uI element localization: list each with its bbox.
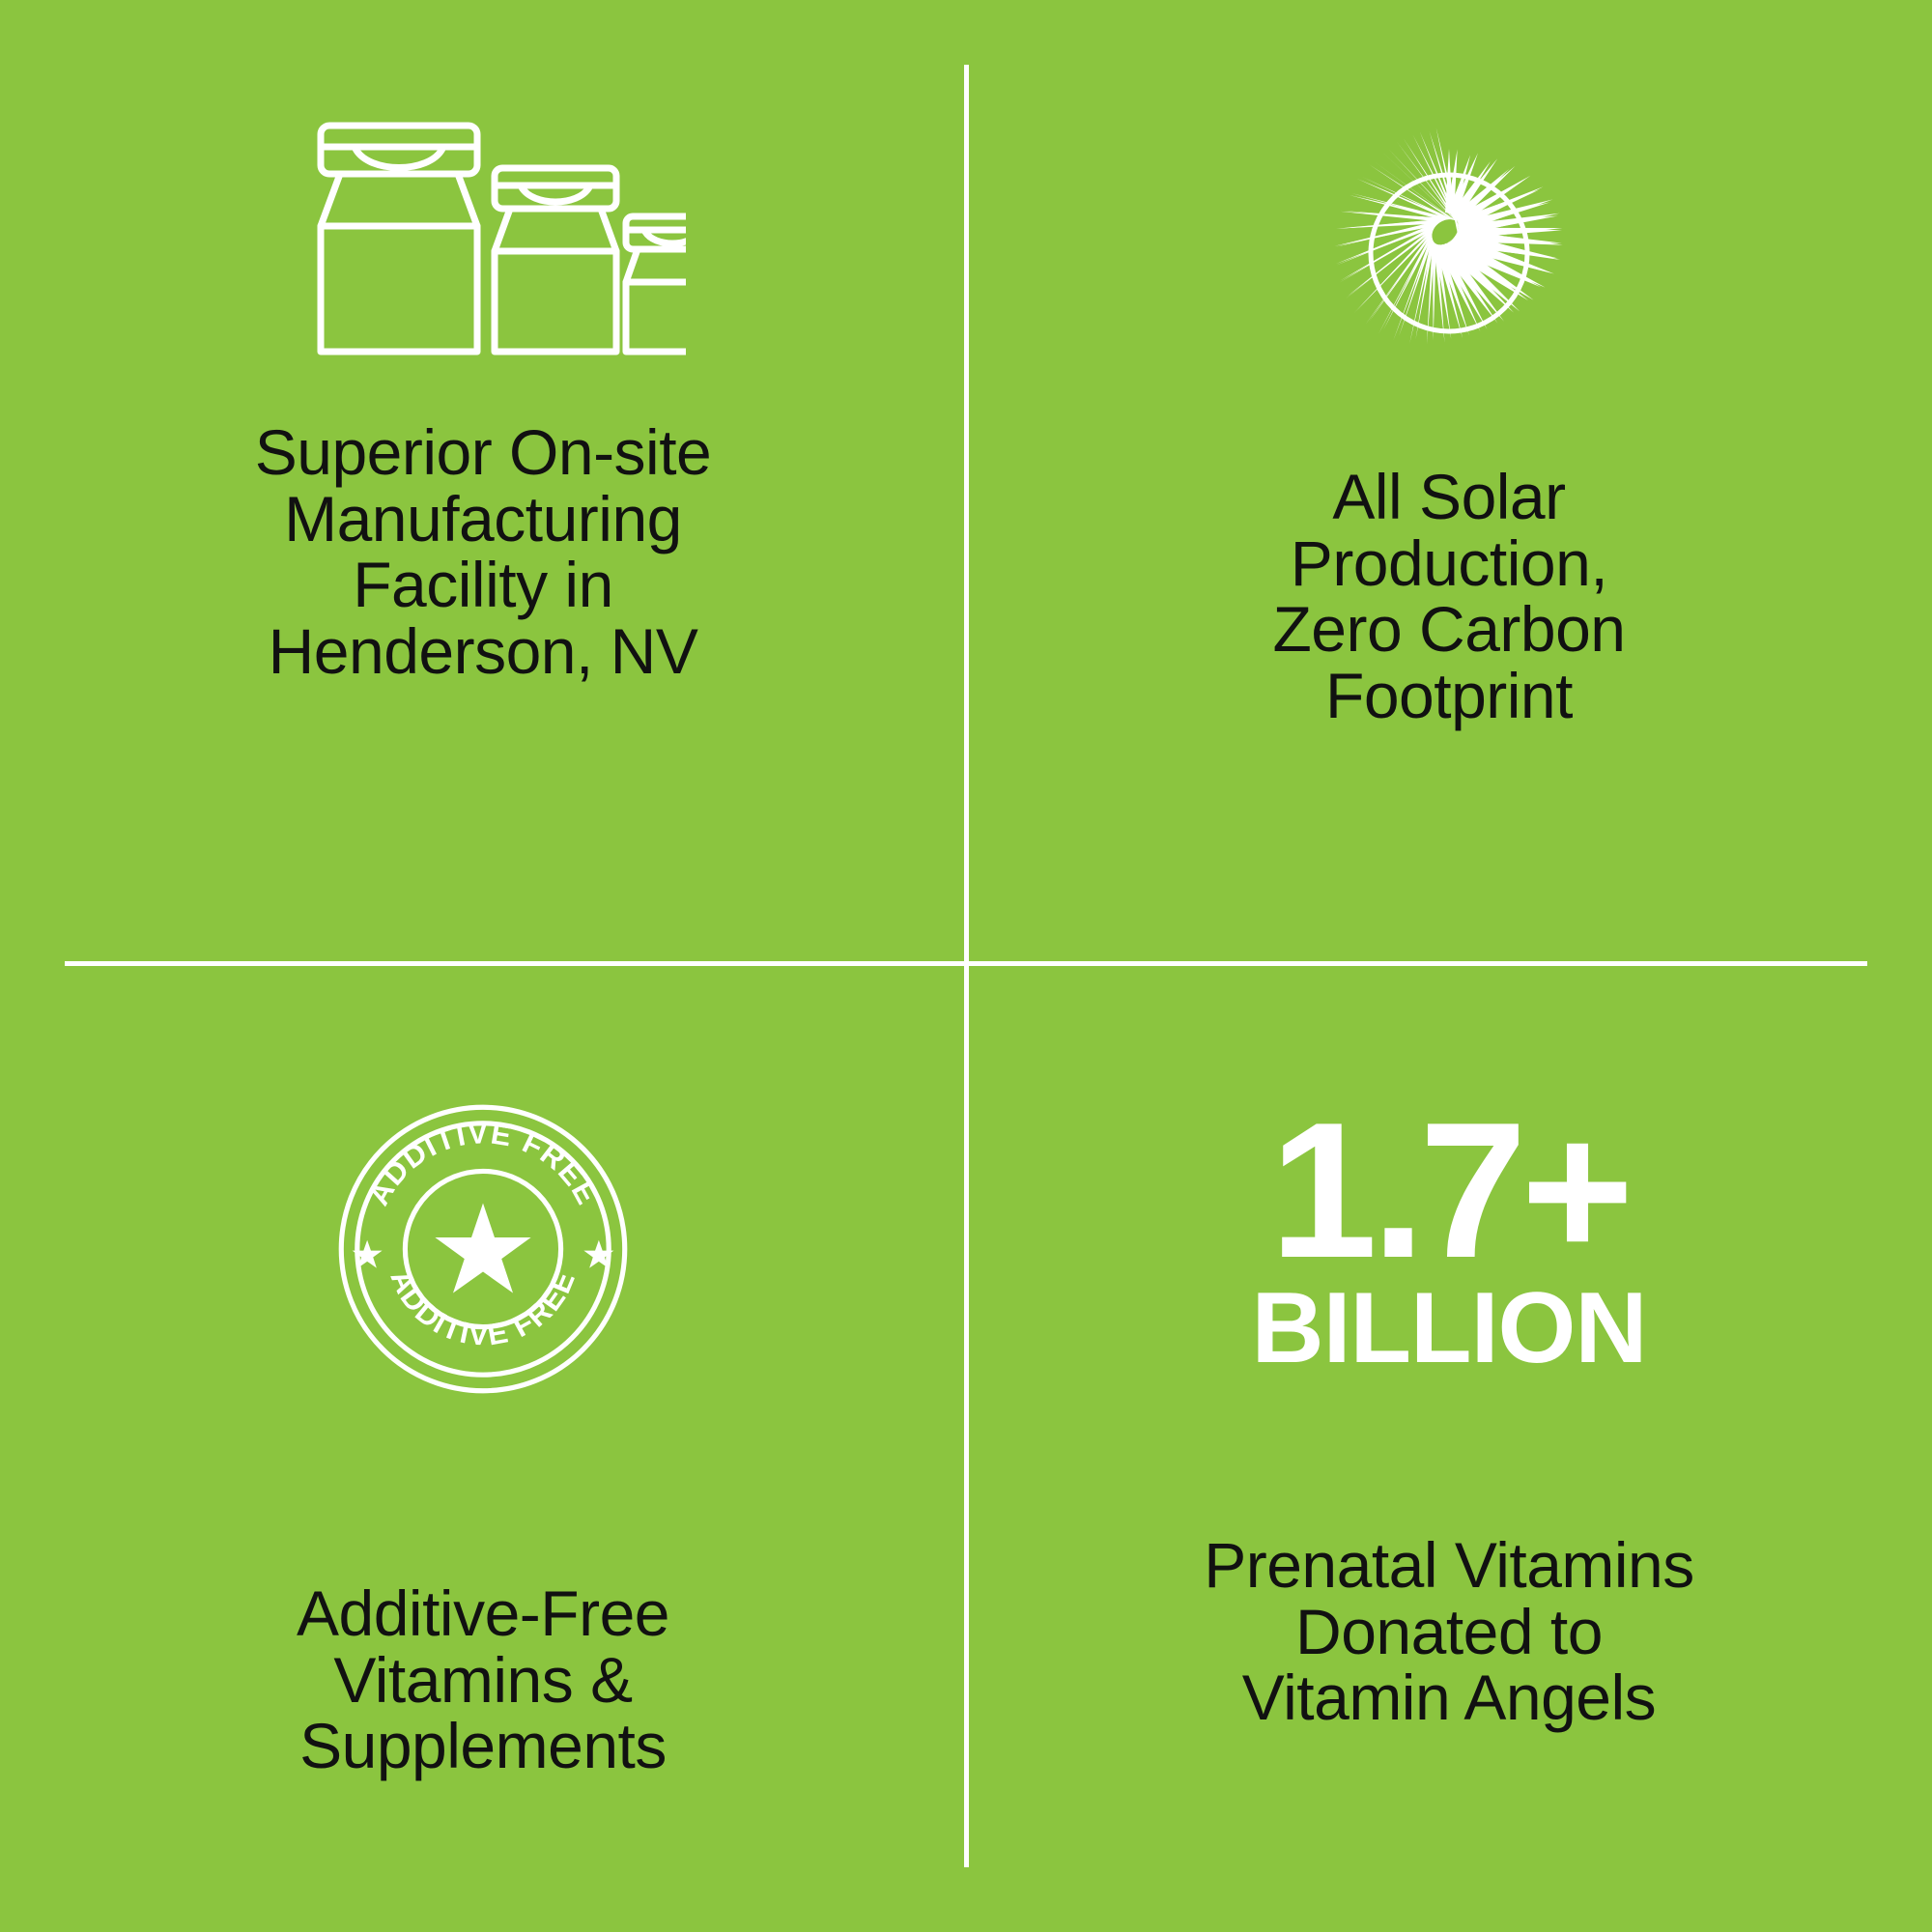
- vertical-divider: [964, 65, 969, 1867]
- donation-count-stat: 1.7+ BILLION: [1246, 1099, 1652, 1389]
- quadrant-donations-stat-area: 1.7+ BILLION: [1246, 1099, 1652, 1389]
- supplement-bottles-icon: [280, 108, 686, 359]
- quadrant-additive-free-icon-area: ADDITIVE FREE ADDITIVE FREE: [333, 1099, 633, 1399]
- quadrant-manufacturing-icon-area: [280, 108, 686, 359]
- additive-free-seal-text-bottom: ADDITIVE FREE: [384, 1265, 582, 1352]
- quadrant-donations-caption: Prenatal Vitamins Donated to Vitamin Ang…: [1204, 1532, 1694, 1731]
- additive-free-seal-icon: ADDITIVE FREE ADDITIVE FREE: [333, 1099, 633, 1399]
- quadrant-manufacturing-caption: Superior On-site Manufacturing Facility …: [255, 419, 712, 685]
- quadrant-additive-free: ADDITIVE FREE ADDITIVE FREE Additive-Fre…: [0, 966, 966, 1932]
- star-icon: [435, 1203, 530, 1293]
- quadrant-solar-icon-area: [1304, 108, 1594, 408]
- donation-count-unit: BILLION: [1252, 1278, 1647, 1378]
- additive-free-seal-text-top: ADDITIVE FREE: [361, 1116, 605, 1210]
- quadrant-additive-free-caption: Additive-Free Vitamins & Supplements: [297, 1580, 669, 1779]
- quadrant-donations: 1.7+ BILLION Prenatal Vitamins Donated t…: [966, 966, 1932, 1932]
- quadrant-solar-caption: All Solar Production, Zero Carbon Footpr…: [1272, 464, 1625, 729]
- quadrant-solar: All Solar Production, Zero Carbon Footpr…: [966, 0, 1932, 966]
- horizontal-divider: [65, 961, 1867, 966]
- four-quadrant-infographic: Superior On-site Manufacturing Facility …: [0, 0, 1932, 1932]
- donation-count-number: 1.7+: [1270, 1110, 1629, 1272]
- quadrant-manufacturing: Superior On-site Manufacturing Facility …: [0, 0, 966, 966]
- sun-icon: [1304, 108, 1594, 398]
